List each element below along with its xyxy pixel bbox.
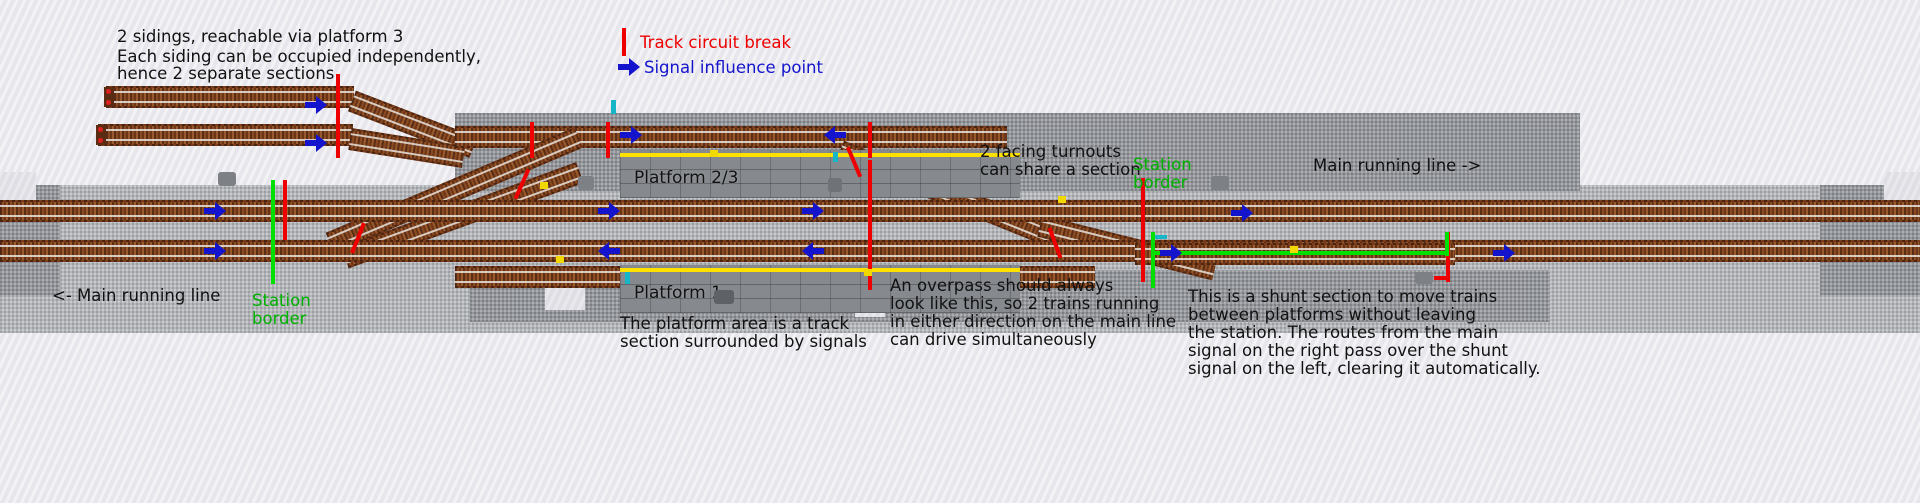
annotation-sidings-line-1: 2 sidings, reachable via platform 3 <box>117 26 403 47</box>
annotation-platform-area-line-2: section surrounded by signals <box>620 331 867 352</box>
station-track-upper <box>455 126 875 148</box>
platform-2-3: Platform 2/3 <box>620 150 1020 198</box>
legend-track-circuit-break-label: Track circuit break <box>640 33 791 52</box>
track-circuit-break <box>283 180 287 240</box>
trackside-marker <box>864 269 872 276</box>
annotation-facing-turnouts-line-2: can share a section <box>980 159 1141 180</box>
terrain-concrete-left <box>0 172 36 202</box>
main-line-north <box>0 200 1920 222</box>
trackside-signal <box>833 152 838 162</box>
platform-2-3-label: Platform 2/3 <box>634 168 738 188</box>
trackside-marker <box>710 150 718 157</box>
trackside-signal <box>1155 235 1167 239</box>
track-circuit-break <box>336 74 340 158</box>
annotation-overpass-line-4: can drive simultaneously <box>890 329 1097 350</box>
shunt-section-line-horizontal <box>1151 251 1449 255</box>
trackside-marker <box>540 182 548 189</box>
trackside-marker <box>556 256 564 263</box>
annotation-shunt-line-5: signal on the left, clearing it automati… <box>1188 358 1541 379</box>
buffer-stop-lower-siding <box>96 125 106 145</box>
trackside-boulder <box>714 290 734 304</box>
annotation-station-border-right-line-2: border <box>1133 172 1187 193</box>
annotation-station-border-left-line-2: border <box>252 308 306 329</box>
station-border-line-left <box>271 180 275 284</box>
station-border-line-right <box>1151 232 1155 288</box>
trackside-marker <box>1058 196 1066 203</box>
trackside-boulder <box>1415 272 1433 284</box>
trackside-signal <box>611 100 616 114</box>
railway-diagram-canvas: Platform 2/3 Platform 1 <box>0 0 1920 503</box>
trackside-boulder <box>1211 176 1229 190</box>
trackside-boulder <box>828 178 842 192</box>
track-circuit-break <box>1141 178 1145 282</box>
shunt-section-line-right <box>1445 232 1449 256</box>
terrain-snow-lower <box>0 330 1920 503</box>
annotation-sidings-line-3: hence 2 separate sections <box>117 63 334 84</box>
trackside-signal <box>625 272 630 284</box>
platform-1-label: Platform 1 <box>634 283 722 303</box>
trackside-boulder <box>578 176 594 190</box>
track-circuit-break <box>868 122 872 158</box>
trackside-marker <box>1290 246 1298 253</box>
legend-signal-influence-point-swatch <box>618 58 640 80</box>
annotation-main-line-left: <- Main running line <box>52 285 220 306</box>
track-circuit-break <box>606 122 610 158</box>
track-circuit-break <box>530 122 534 158</box>
annotation-main-line-right: Main running line -> <box>1313 155 1481 176</box>
legend-track-circuit-break-swatch <box>622 28 626 56</box>
buffer-stop-upper-siding <box>104 87 114 107</box>
track-circuit-break <box>1434 276 1448 280</box>
terrain-concrete-right <box>1884 172 1920 202</box>
main-line-south <box>0 240 1920 262</box>
trackside-boulder <box>218 172 236 186</box>
legend-signal-influence-point-label: Signal influence point <box>644 58 823 77</box>
